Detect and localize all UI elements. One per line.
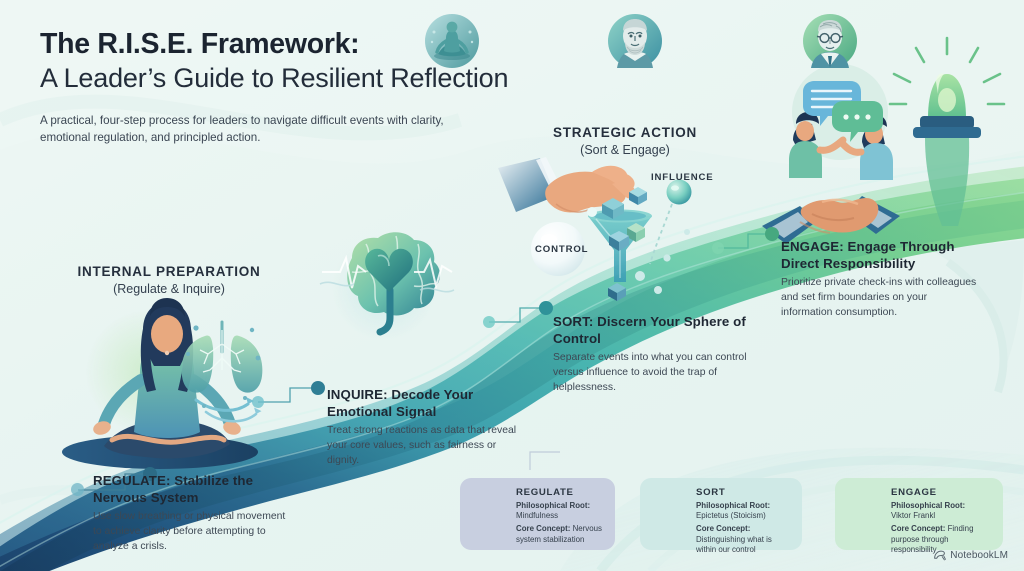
- card-concept-label: Core Concept:: [516, 524, 570, 533]
- card-concept-label: Core Concept:: [696, 524, 750, 533]
- card-root: Philosophical Root: Epictetus (Stoicism): [696, 501, 792, 522]
- step-sort: SORT: Discern Your Sphere of Control Sep…: [553, 313, 749, 395]
- card-sort[interactable]: SORT Philosophical Root: Epictetus (Stoi…: [640, 478, 802, 550]
- page-subtitle: A practical, four-step process for leade…: [40, 112, 460, 147]
- funnel-label-influence: INFLUENCE: [651, 172, 714, 183]
- card-title: SORT: [696, 487, 792, 498]
- step-body: Prioritize private check-ins with collea…: [781, 276, 981, 320]
- card-concept: Core Concept: Nervous system stabilizati…: [516, 524, 605, 545]
- notebooklm-logo-icon: [933, 549, 946, 562]
- watermark-text: NotebookLM: [950, 550, 1008, 561]
- card-root-value: Epictetus (Stoicism): [696, 511, 766, 520]
- phase-label-internal-preparation: INTERNAL PREPARATION (Regulate & Inquire…: [44, 264, 294, 296]
- step-heading: REGULATE: Stabilize the Nervous System: [93, 472, 289, 506]
- card-root-value: Viktor Frankl: [891, 511, 935, 520]
- card-concept-value: Distinguishing what is within our contro…: [696, 535, 772, 554]
- step-heading: SORT: Discern Your Sphere of Control: [553, 313, 749, 347]
- step-heading: ENGAGE: Engage Through Direct Responsibi…: [781, 238, 981, 272]
- phase-subtitle: (Regulate & Inquire): [44, 282, 294, 296]
- connector-dot-sort-anchor: [539, 301, 553, 315]
- step-body: Use slow breathing or physical movement …: [93, 510, 289, 554]
- phase-subtitle: (Sort & Engage): [500, 143, 750, 157]
- infographic-canvas: The R.I.S.E. Framework: A Leader’s Guide…: [0, 0, 1024, 571]
- viktor-frankl-portrait-icon: [803, 14, 857, 68]
- funnel-label-control: CONTROL: [535, 244, 588, 255]
- card-engage[interactable]: ENGAGE Philosophical Root: Viktor Frankl…: [835, 478, 1003, 550]
- meditating-figure-icon: [425, 14, 479, 68]
- connector-dot-inquire-anchor: [311, 381, 325, 395]
- card-root-label: Philosophical Root:: [516, 501, 590, 510]
- phase-title: INTERNAL PREPARATION: [44, 264, 294, 279]
- step-engage: ENGAGE: Engage Through Direct Responsibi…: [781, 238, 981, 320]
- phase-label-strategic-action: STRATEGIC ACTION (Sort & Engage): [500, 125, 750, 157]
- step-regulate: REGULATE: Stabilize the Nervous System U…: [93, 472, 289, 554]
- card-regulate[interactable]: REGULATE Philosophical Root: Mindfulness…: [460, 478, 615, 550]
- card-title: REGULATE: [516, 487, 605, 498]
- step-body: Separate events into what you can contro…: [553, 351, 749, 395]
- epictetus-portrait-icon: [608, 14, 662, 68]
- card-root-value: Mindfulness: [516, 511, 558, 520]
- connector-dot-engage: [712, 242, 724, 254]
- step-heading: INQUIRE: Decode Your Emotional Signal: [327, 386, 523, 420]
- card-concept: Core Concept: Distinguishing what is wit…: [696, 524, 792, 555]
- card-root-label: Philosophical Root:: [891, 501, 965, 510]
- card-root-label: Philosophical Root:: [696, 501, 770, 510]
- card-concept-label: Core Concept:: [891, 524, 945, 533]
- connector-dot-inquire: [252, 396, 264, 408]
- card-root: Philosophical Root: Mindfulness: [516, 501, 605, 522]
- connector-dot-sort: [483, 316, 495, 328]
- card-title: ENGAGE: [891, 487, 993, 498]
- step-inquire: INQUIRE: Decode Your Emotional Signal Tr…: [327, 386, 523, 468]
- card-root: Philosophical Root: Viktor Frankl: [891, 501, 993, 522]
- step-body: Treat strong reactions as data that reve…: [327, 424, 523, 468]
- phase-title: STRATEGIC ACTION: [500, 125, 750, 140]
- notebooklm-watermark: NotebookLM: [933, 549, 1008, 562]
- connector-dot-regulate: [71, 483, 84, 496]
- connector-dot-engage-anchor: [765, 227, 779, 241]
